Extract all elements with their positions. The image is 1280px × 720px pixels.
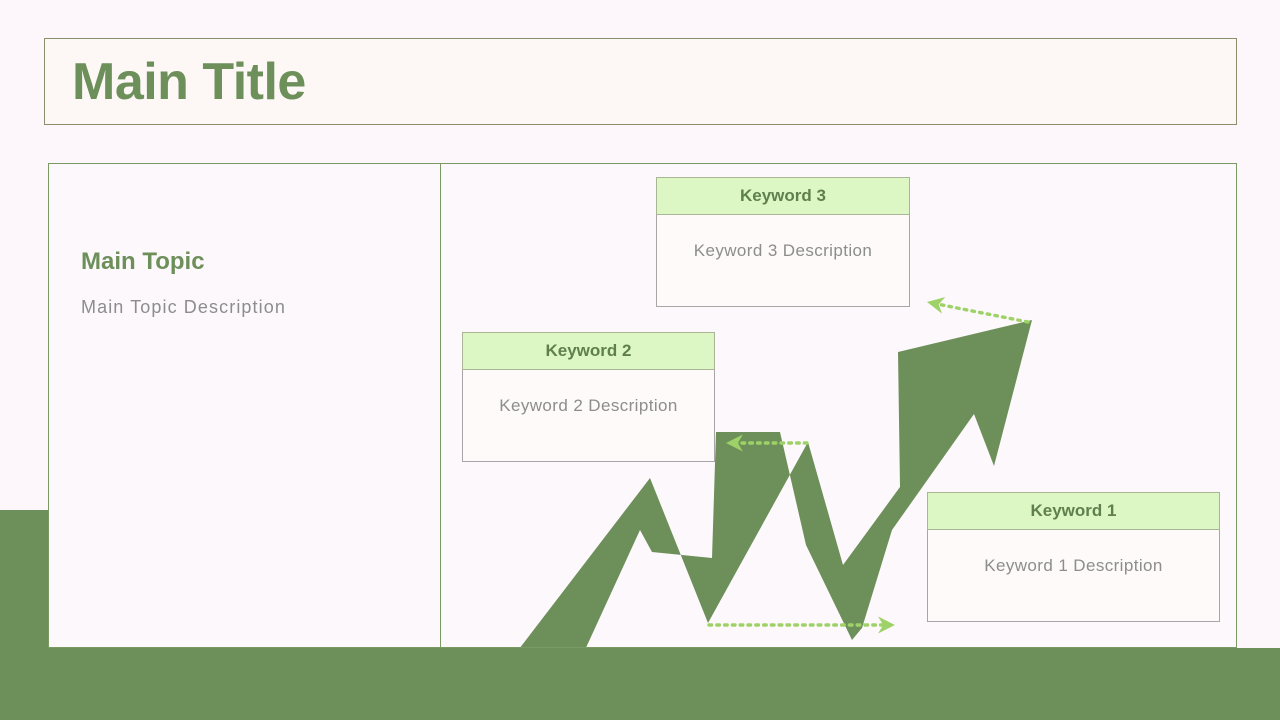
panel-divider bbox=[440, 164, 441, 648]
keyword-card-1-body: Keyword 1 Description bbox=[927, 530, 1220, 622]
keyword-card-3[interactable]: Keyword 3 Keyword 3 Description bbox=[656, 177, 910, 307]
title-box: Main Title bbox=[44, 38, 1237, 125]
keyword-card-1-header: Keyword 1 bbox=[927, 492, 1220, 530]
page-title: Main Title bbox=[72, 52, 306, 112]
keyword-card-3-header: Keyword 3 bbox=[656, 177, 910, 215]
keyword-card-1-title: Keyword 1 bbox=[1031, 501, 1117, 521]
slide-canvas: Main Title Main Topic Main Topic Descrip… bbox=[0, 0, 1280, 720]
keyword-card-3-description: Keyword 3 Description bbox=[657, 241, 909, 261]
keyword-card-3-title: Keyword 3 bbox=[740, 186, 826, 206]
main-topic-description: Main Topic Description bbox=[81, 297, 286, 318]
keyword-card-2-body: Keyword 2 Description bbox=[462, 370, 715, 462]
keyword-card-3-body: Keyword 3 Description bbox=[656, 215, 910, 307]
keyword-card-2-header: Keyword 2 bbox=[462, 332, 715, 370]
main-topic-title: Main Topic bbox=[81, 248, 205, 276]
keyword-card-2[interactable]: Keyword 2 Keyword 2 Description bbox=[462, 332, 715, 462]
keyword-card-1-description: Keyword 1 Description bbox=[928, 556, 1219, 576]
keyword-card-2-title: Keyword 2 bbox=[546, 341, 632, 361]
keyword-card-2-description: Keyword 2 Description bbox=[463, 396, 714, 416]
keyword-card-1[interactable]: Keyword 1 Keyword 1 Description bbox=[927, 492, 1220, 622]
decorative-band-bottom bbox=[0, 648, 1280, 720]
